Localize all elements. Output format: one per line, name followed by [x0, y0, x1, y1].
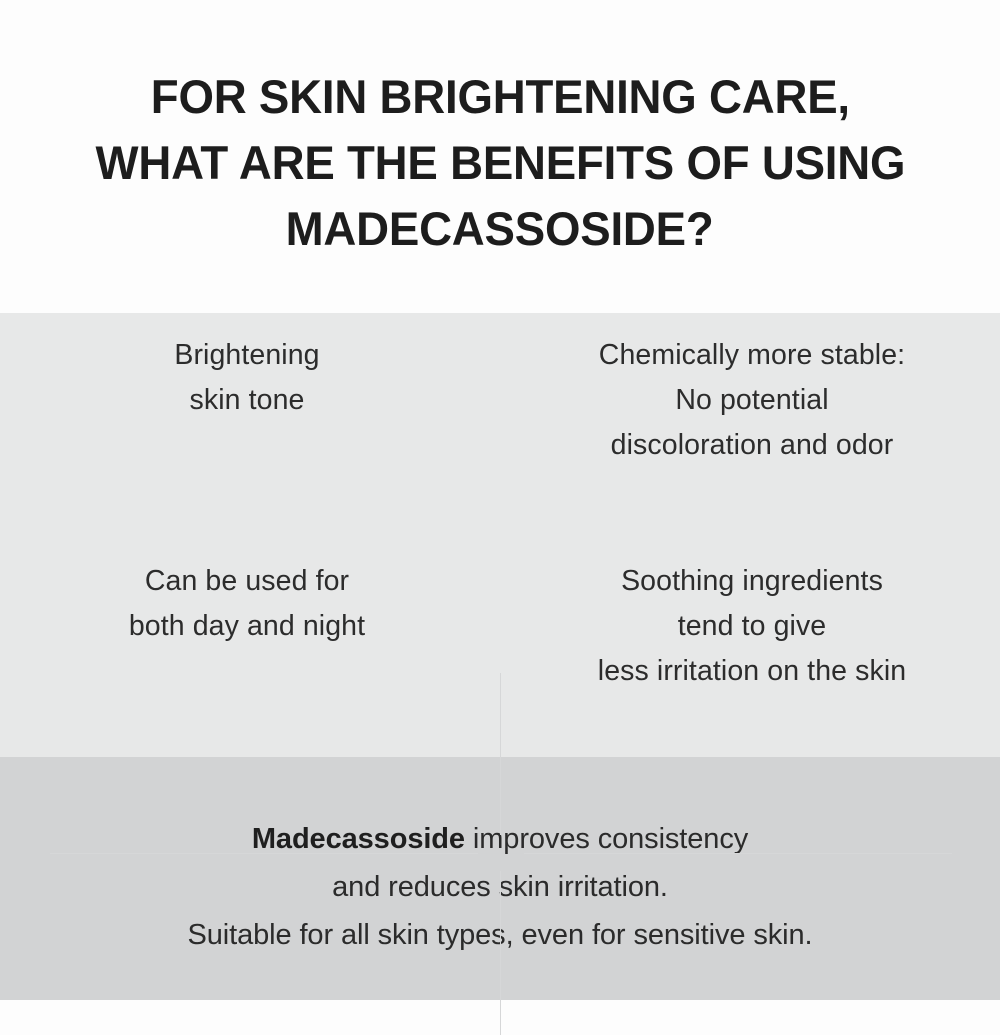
benefit-line: Chemically more stable:	[599, 333, 905, 378]
benefit-line: Brightening	[174, 333, 319, 378]
benefit-line: skin tone	[174, 378, 319, 423]
benefit-line: discoloration and odor	[599, 423, 905, 468]
benefit-cell-chemically-more-stable: Chemically more stable: No potential dis…	[500, 313, 1000, 535]
benefit-cell-brightening-skin-tone: Brightening skin tone	[0, 313, 500, 535]
grid-divider-horizontal-left	[50, 853, 478, 854]
benefits-section: Brightening skin tone Chemically more st…	[0, 313, 1000, 757]
benefit-cell-day-and-night-use: Can be used for both day and night	[0, 535, 500, 757]
headline-line-2: WHAT ARE THE BENEFITS OF USING	[95, 130, 905, 196]
benefit-text-soothing-ingredients: Soothing ingredients tend to give less i…	[594, 559, 906, 694]
summary-line-1-rest: improves consistency	[465, 823, 748, 855]
benefit-text-brightening-skin-tone: Brightening skin tone	[174, 333, 325, 423]
benefit-text-chemically-more-stable: Chemically more stable: No potential dis…	[595, 333, 905, 468]
headline-line-1: FOR SKIN BRIGHTENING CARE,	[150, 64, 849, 130]
headline-line-3: MADECASSOSIDE?	[286, 196, 714, 262]
grid-divider-horizontal-right	[524, 853, 952, 854]
infographic-page: FOR SKIN BRIGHTENING CARE, WHAT ARE THE …	[0, 0, 1000, 1000]
benefit-line: tend to give	[598, 604, 906, 649]
benefit-line: Soothing ingredients	[598, 559, 906, 604]
grid-divider-vertical-bottom	[500, 871, 501, 1035]
summary-ingredient-name: Madecassoside	[252, 823, 465, 855]
benefit-text-day-and-night-use: Can be used for both day and night	[129, 559, 371, 649]
benefit-line: Can be used for	[129, 559, 365, 604]
benefit-line: both day and night	[129, 604, 365, 649]
benefit-cell-soothing-ingredients: Soothing ingredients tend to give less i…	[500, 535, 1000, 757]
benefit-line: less irritation on the skin	[598, 649, 906, 694]
grid-divider-vertical-top	[500, 673, 501, 835]
headline-section: FOR SKIN BRIGHTENING CARE, WHAT ARE THE …	[0, 0, 1000, 313]
benefit-line: No potential	[599, 378, 905, 423]
